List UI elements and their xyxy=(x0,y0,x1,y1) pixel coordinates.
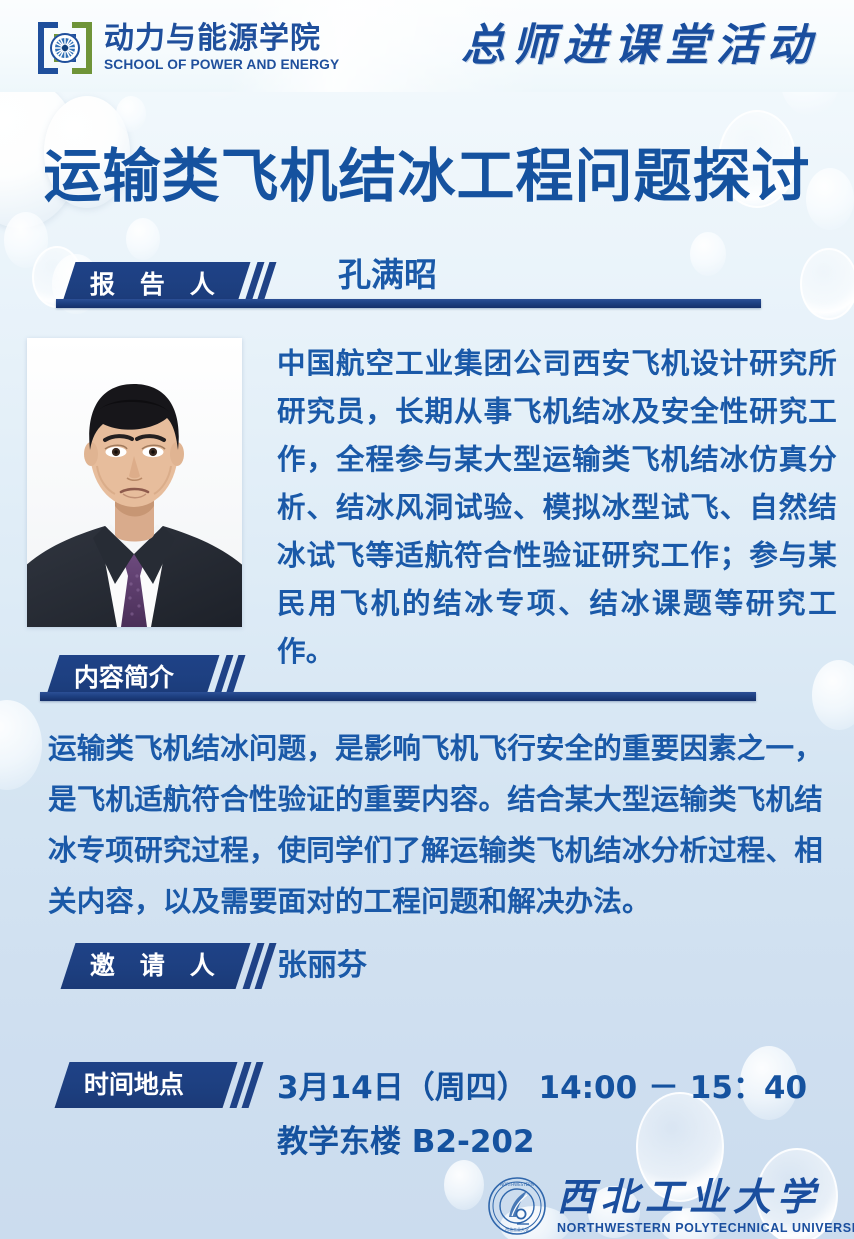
inviter-name: 张丽芬 xyxy=(277,951,367,981)
speaker-divider-rule xyxy=(56,299,761,308)
svg-text:西北工业大学: 西北工业大学 xyxy=(505,1226,529,1232)
venue-label: 时间地点 xyxy=(84,1073,184,1098)
inviter-label: 邀 请 人 xyxy=(90,954,224,979)
decor-droplet xyxy=(0,700,42,790)
decor-droplet xyxy=(690,232,726,276)
speaker-name: 孔满昭 xyxy=(338,258,437,291)
school-logo: 动力与能源学院 SCHOOL OF POWER AND ENERGY xyxy=(34,18,335,78)
svg-text:NORTHWESTERN: NORTHWESTERN xyxy=(500,1182,534,1187)
abstract-divider-rule xyxy=(40,692,756,701)
speaker-portrait xyxy=(27,338,242,627)
school-name-cn: 动力与能源学院 xyxy=(104,24,335,54)
school-logo-text: 动力与能源学院 SCHOOL OF POWER AND ENERGY xyxy=(104,24,335,72)
decor-droplet xyxy=(4,212,48,268)
header-bar: 动力与能源学院 SCHOOL OF POWER AND ENERGY 总师进课堂… xyxy=(0,0,854,92)
bracket-gear-logo-icon xyxy=(34,18,96,78)
venue-datetime: 3月14日（周四） 14:00 － 15：40 xyxy=(277,1073,807,1104)
speaker-bio: 中国航空工业集团公司西安飞机设计研究所研究员，长期从事飞机结冰及安全性研究工作，… xyxy=(277,340,837,676)
inviter-label-banner: 邀 请 人 xyxy=(61,943,251,989)
venue-label-banner: 时间地点 xyxy=(55,1062,238,1108)
abstract-body: 运输类飞机结冰问题，是影响飞机飞行安全的重要因素之一，是飞机适航符合性验证的重要… xyxy=(48,724,838,928)
university-logo-text: 西北工业大学 NORTHWESTERN POLYTECHNICAL UNIVER… xyxy=(557,1178,854,1235)
abstract-heading-label: 内容简介 xyxy=(74,666,174,691)
page-title: 运输类飞机结冰工程问题探讨 xyxy=(0,141,854,213)
speaker-label: 报 告 人 xyxy=(90,273,224,298)
university-name-en: NORTHWESTERN POLYTECHNICAL UNIVERSITY xyxy=(557,1222,854,1235)
decor-droplet xyxy=(126,218,160,260)
event-series-kicker: 总师进课堂活动 xyxy=(461,16,818,76)
decor-droplet xyxy=(444,1160,484,1210)
venue-location: 教学东楼 B2-202 xyxy=(277,1127,535,1158)
university-name-cn: 西北工业大学 xyxy=(557,1178,854,1216)
decor-droplet xyxy=(116,96,146,132)
university-logo: NORTHWESTERN 西北工业大学 西北工业大学 NORTHWESTERN … xyxy=(487,1176,854,1236)
decor-ring xyxy=(800,248,854,320)
university-seal-icon: NORTHWESTERN 西北工业大学 xyxy=(487,1176,547,1236)
poster-root: 动力与能源学院 SCHOOL OF POWER AND ENERGY 总师进课堂… xyxy=(0,0,854,1239)
school-name-en: SCHOOL OF POWER AND ENERGY xyxy=(104,58,339,72)
